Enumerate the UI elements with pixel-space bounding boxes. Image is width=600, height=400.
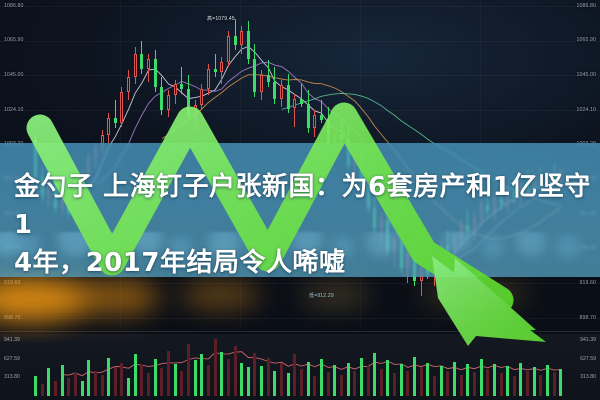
thumbnail-canvas: 1086.801086.801065.901065.901045.001045.… (0, 0, 600, 400)
headline-line-1: 金勺子 上海钉子户张新国：为6套房产和1亿坚守1 (14, 172, 591, 240)
headline-line-2: 4年，2017年结局令人唏嘘 (14, 244, 592, 282)
headline: 金勺子 上海钉子户张新国：为6套房产和1亿坚守14年，2017年结局令人唏嘘 (14, 168, 592, 282)
